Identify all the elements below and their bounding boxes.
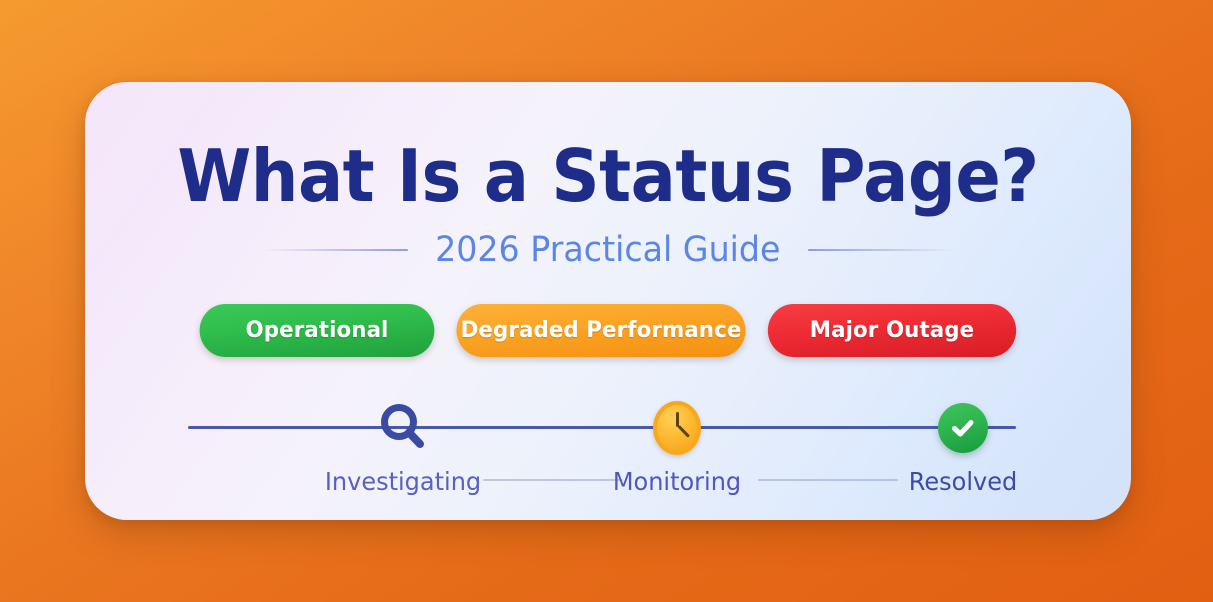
timeline-track xyxy=(188,426,1016,429)
title-block: What Is a Status Page? xyxy=(85,140,1131,212)
page-title: What Is a Status Page? xyxy=(122,140,1095,212)
subtitle-row: 2026 Practical Guide xyxy=(85,230,1131,270)
hero-card: What Is a Status Page? 2026 Practical Gu… xyxy=(85,82,1131,520)
timeline-label-rule-2 xyxy=(758,479,898,481)
timeline-stage-investigating-label: Investigating xyxy=(325,467,481,496)
status-pill-outage[interactable]: Major Outage xyxy=(768,304,1016,357)
magnifier-icon xyxy=(370,395,436,461)
timeline-label-rule-1 xyxy=(483,479,623,481)
page-subtitle: 2026 Practical Guide xyxy=(435,230,780,270)
incident-timeline: Investigating Monitoring Resolved xyxy=(188,395,1016,500)
status-pill-operational-label: Operational xyxy=(246,318,389,343)
subtitle-rule-right xyxy=(808,249,953,251)
timeline-stage-monitoring-label: Monitoring xyxy=(613,467,741,496)
subtitle-rule-left xyxy=(263,249,408,251)
status-pill-degraded-label: Degraded Performance xyxy=(461,318,742,343)
status-pill-group: Operational Degraded Performance Major O… xyxy=(85,304,1131,357)
status-pill-operational[interactable]: Operational xyxy=(200,304,435,357)
status-pill-outage-label: Major Outage xyxy=(810,318,974,343)
status-pill-degraded[interactable]: Degraded Performance xyxy=(456,304,745,357)
check-circle-icon xyxy=(930,395,996,461)
timeline-stage-resolved-label: Resolved xyxy=(909,467,1017,496)
clock-icon xyxy=(644,395,710,461)
